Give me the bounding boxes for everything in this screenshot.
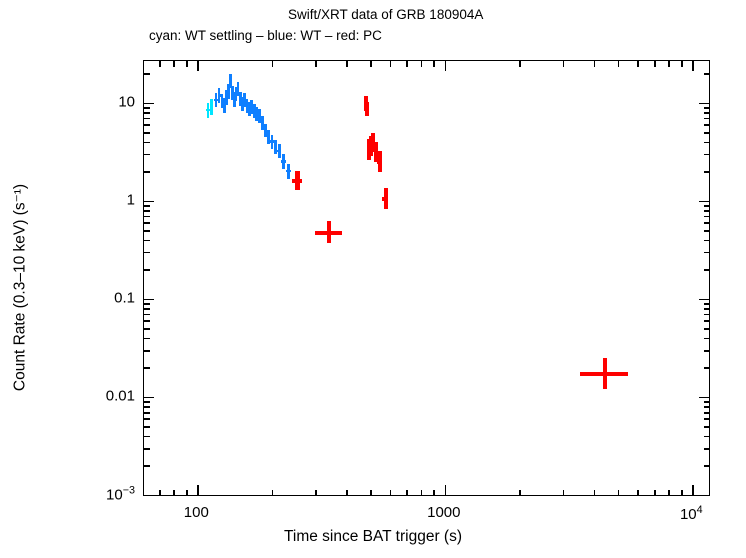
y-tick-minor (144, 73, 150, 75)
x-tick-minor (637, 61, 639, 67)
y-tick-label: 10−3 (65, 484, 135, 503)
y-error-bar (278, 144, 281, 158)
x-tick-minor (186, 61, 188, 67)
x-tick-minor (618, 490, 620, 496)
y-tick-minor (144, 436, 150, 438)
y-tick-major (144, 201, 154, 203)
y-tick-minor (144, 230, 150, 232)
y-tick-minor (704, 303, 710, 305)
y-tick-minor (144, 142, 150, 144)
y-tick-minor (704, 314, 710, 316)
x-axis-label: Time since BAT trigger (s) (0, 528, 746, 546)
x-tick-label: 100 (184, 504, 209, 521)
x-tick-minor (315, 490, 317, 496)
x-tick-minor (433, 490, 435, 496)
y-tick-minor (704, 210, 710, 212)
y-tick-minor (144, 412, 150, 414)
y-tick-minor (144, 465, 150, 467)
x-tick-minor (618, 61, 620, 67)
y-tick-minor (144, 171, 150, 173)
y-tick-major (144, 397, 154, 399)
y-error-bar (365, 102, 369, 117)
y-tick-minor (144, 112, 150, 114)
x-tick-minor (519, 61, 521, 67)
x-tick-label: 1000 (427, 504, 460, 521)
y-tick-minor (704, 401, 710, 403)
y-tick-label: 10 (65, 93, 135, 110)
y-tick-minor (704, 124, 710, 126)
x-tick-major (197, 61, 199, 71)
chart-root: Swift/XRT data of GRB 180904A cyan: WT s… (0, 0, 746, 558)
y-tick-minor (704, 107, 710, 109)
x-tick-minor (390, 490, 392, 496)
y-tick-minor (704, 252, 710, 254)
x-tick-minor (406, 490, 408, 496)
y-tick-label: 0.01 (65, 387, 135, 404)
y-tick-minor (704, 269, 710, 271)
y-tick-minor (704, 418, 710, 420)
y-tick-label: 1 (65, 191, 135, 208)
y-tick-minor (704, 320, 710, 322)
y-error-bar (210, 99, 213, 115)
y-tick-minor (144, 418, 150, 420)
y-tick-minor (144, 269, 150, 271)
x-tick-minor (519, 490, 521, 496)
y-error-bar (287, 164, 290, 179)
y-tick-minor (144, 240, 150, 242)
y-tick-major (699, 495, 709, 497)
y-tick-major (699, 299, 709, 301)
y-tick-minor (704, 171, 710, 173)
y-tick-minor (144, 401, 150, 403)
y-tick-minor (144, 154, 150, 156)
y-tick-minor (144, 308, 150, 310)
y-tick-minor (144, 210, 150, 212)
x-tick-minor (159, 61, 161, 67)
y-tick-minor (704, 448, 710, 450)
y-tick-minor (144, 216, 150, 218)
x-tick-minor (681, 61, 683, 67)
y-tick-minor (704, 73, 710, 75)
y-tick-minor (144, 222, 150, 224)
x-tick-minor (681, 490, 683, 496)
y-error-bar (378, 151, 382, 172)
y-error-bar (603, 358, 607, 389)
x-tick-major (445, 485, 447, 495)
x-tick-minor (594, 61, 596, 67)
y-error-bar (274, 140, 277, 154)
y-tick-minor (704, 406, 710, 408)
x-tick-minor (406, 61, 408, 67)
x-tick-major (445, 61, 447, 71)
x-tick-minor (173, 61, 175, 67)
y-tick-minor (144, 328, 150, 330)
y-tick-minor (144, 338, 150, 340)
y-tick-minor (704, 436, 710, 438)
y-tick-minor (144, 132, 150, 134)
x-tick-minor (637, 490, 639, 496)
y-error-bar (384, 188, 388, 208)
x-tick-minor (563, 490, 565, 496)
y-error-bar (327, 221, 331, 243)
x-tick-label: 104 (680, 504, 703, 523)
y-tick-major (144, 299, 154, 301)
x-tick-minor (186, 490, 188, 496)
y-tick-minor (704, 328, 710, 330)
y-tick-major (699, 201, 709, 203)
x-tick-minor (563, 61, 565, 67)
y-tick-minor (704, 240, 710, 242)
y-tick-minor (144, 118, 150, 120)
y-tick-minor (704, 112, 710, 114)
y-tick-minor (144, 448, 150, 450)
x-tick-minor (668, 61, 670, 67)
x-tick-minor (370, 490, 372, 496)
y-tick-major (699, 397, 709, 399)
x-tick-minor (315, 61, 317, 67)
y-tick-label: 0.1 (65, 289, 135, 306)
y-tick-minor (704, 350, 710, 352)
y-tick-minor (704, 308, 710, 310)
y-tick-minor (144, 205, 150, 207)
y-tick-minor (144, 320, 150, 322)
x-tick-minor (421, 490, 423, 496)
x-tick-minor (272, 490, 274, 496)
y-tick-minor (704, 154, 710, 156)
chart-title: Swift/XRT data of GRB 180904A (288, 7, 483, 22)
y-tick-minor (704, 132, 710, 134)
y-tick-minor (704, 426, 710, 428)
chart-subtitle-legend: cyan: WT settling – blue: WT – red: PC (149, 28, 382, 43)
y-tick-minor (144, 426, 150, 428)
x-tick-minor (173, 490, 175, 496)
y-tick-minor (144, 367, 150, 369)
x-tick-minor (272, 61, 274, 67)
y-tick-minor (704, 205, 710, 207)
x-tick-minor (346, 61, 348, 67)
y-tick-minor (144, 107, 150, 109)
y-tick-minor (144, 124, 150, 126)
x-tick-minor (159, 490, 161, 496)
y-tick-minor (704, 412, 710, 414)
y-tick-minor (704, 338, 710, 340)
y-tick-minor (704, 118, 710, 120)
plot-area (143, 60, 710, 496)
x-tick-minor (390, 61, 392, 67)
y-tick-major (144, 495, 154, 497)
y-error-bar (295, 171, 299, 190)
y-tick-minor (704, 222, 710, 224)
x-tick-minor (421, 61, 423, 67)
y-tick-minor (704, 465, 710, 467)
y-tick-minor (144, 303, 150, 305)
y-tick-major (699, 103, 709, 105)
y-tick-minor (144, 252, 150, 254)
y-axis-label: Count Rate (0.3–10 keV) (s⁻¹) (11, 78, 30, 498)
y-tick-major (144, 103, 154, 105)
x-tick-minor (668, 490, 670, 496)
y-tick-minor (144, 406, 150, 408)
y-tick-minor (704, 230, 710, 232)
x-tick-major (692, 61, 694, 71)
x-tick-minor (654, 61, 656, 67)
x-tick-minor (654, 490, 656, 496)
y-tick-minor (144, 314, 150, 316)
x-tick-minor (346, 490, 348, 496)
y-tick-minor (704, 367, 710, 369)
x-tick-major (197, 485, 199, 495)
y-tick-minor (144, 350, 150, 352)
x-tick-minor (433, 61, 435, 67)
x-tick-minor (370, 61, 372, 67)
x-tick-minor (594, 490, 596, 496)
y-error-bar (282, 154, 285, 169)
x-tick-major (692, 485, 694, 495)
y-tick-minor (704, 142, 710, 144)
y-tick-minor (704, 216, 710, 218)
